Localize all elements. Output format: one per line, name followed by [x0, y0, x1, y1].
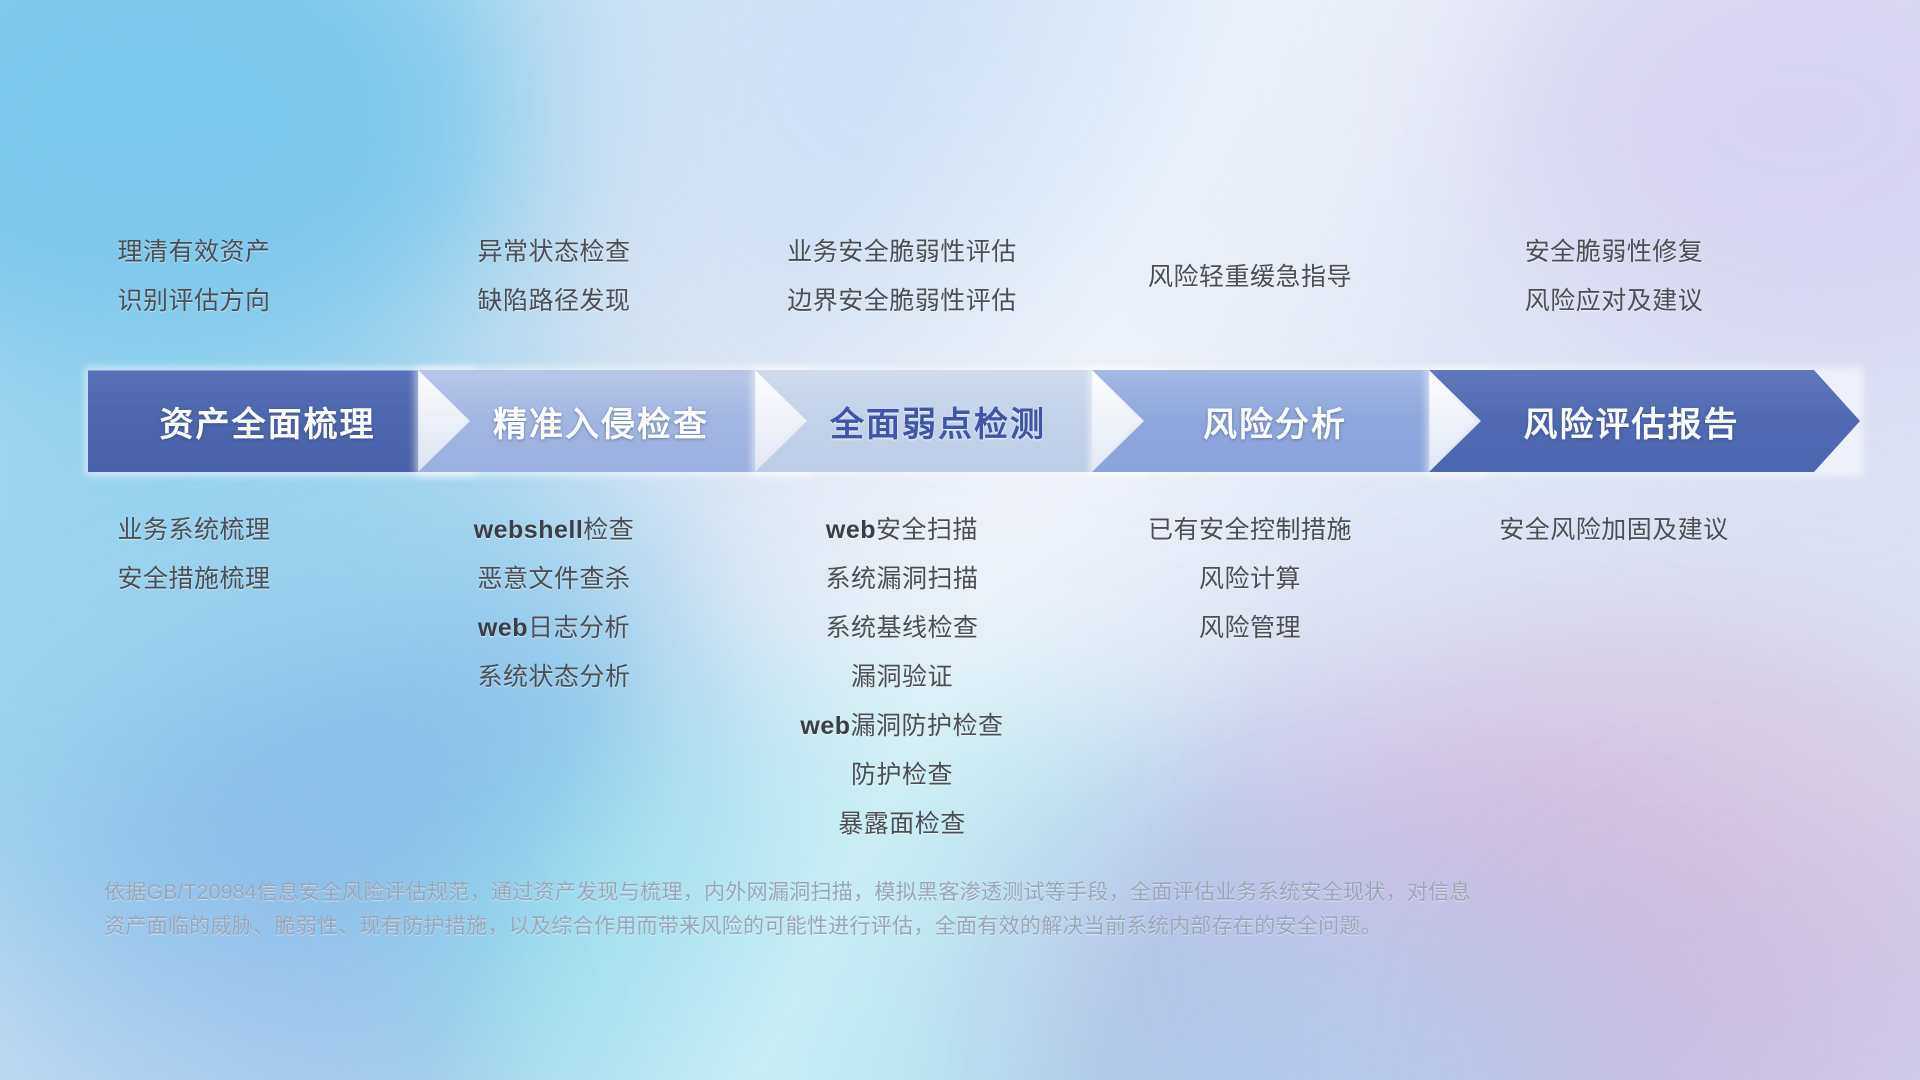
bottom-notes-stage-2: webshell检查 恶意文件查杀 web日志分析 系统状态分析: [380, 506, 728, 702]
note-text: 安全脆弱性修复: [1525, 228, 1704, 277]
footer-description: 依据GB/T20984信息安全风险评估规范，通过资产发现与梳理，内外网漏洞扫描，…: [104, 876, 1724, 944]
chevron-stage-5[interactable]: 风险评估报告: [1429, 370, 1860, 472]
bottom-notes-stage-4: 已有安全控制措施 风险计算 风险管理: [1076, 506, 1424, 653]
top-notes-stage-3: 业务安全脆弱性评估 边界安全脆弱性评估: [728, 228, 1076, 326]
footer-line-2: 资产面临的威胁、脆弱性、现有防护措施，以及综合作用而带来风险的可能性进行评估，全…: [104, 910, 1724, 944]
note-text: 安全风险加固及建议: [1499, 506, 1729, 555]
chevron-label: 资产全面梳理: [160, 397, 376, 446]
note-text: 风险管理: [1199, 604, 1301, 653]
footer-line-1: 依据GB/T20984信息安全风险评估规范，通过资产发现与梳理，内外网漏洞扫描，…: [104, 876, 1724, 910]
top-notes-stage-2: 异常状态检查 缺陷路径发现: [380, 228, 728, 326]
note-text: web漏洞防护检查: [800, 702, 1003, 751]
note-text: 防护检查: [851, 751, 953, 800]
top-notes-stage-5: 安全脆弱性修复 风险应对及建议: [1424, 228, 1804, 326]
note-text: 理清有效资产: [117, 228, 270, 277]
note-text: 风险计算: [1199, 555, 1301, 604]
bottom-notes-row: 业务系统梳理 安全措施梳理 webshell检查 恶意文件查杀 web日志分析 …: [0, 506, 1920, 849]
note-text: webshell检查: [474, 506, 635, 555]
top-notes-stage-4: 风险轻重缓急指导: [1076, 228, 1424, 302]
note-text: 安全措施梳理: [117, 555, 270, 604]
note-text: web日志分析: [478, 604, 630, 653]
note-text: 异常状态检查: [477, 228, 630, 277]
chevron-label: 风险分析: [1203, 397, 1347, 446]
chevron-label: 风险评估报告: [1524, 397, 1740, 446]
top-notes-row: 理清有效资产 识别评估方向 异常状态检查 缺陷路径发现 业务安全脆弱性评估 边界…: [0, 228, 1920, 326]
note-text: 识别评估方向: [117, 277, 270, 326]
note-text: 漏洞验证: [851, 653, 953, 702]
note-text: web安全扫描: [826, 506, 978, 555]
note-text: 风险应对及建议: [1525, 277, 1704, 326]
note-text: 风险轻重缓急指导: [1148, 253, 1352, 302]
note-text: 业务系统梳理: [117, 506, 270, 555]
note-text: 系统漏洞扫描: [825, 555, 978, 604]
note-text: 恶意文件查杀: [477, 555, 630, 604]
note-text: 暴露面检查: [838, 800, 966, 849]
top-notes-stage-1: 理清有效资产 识别评估方向: [8, 228, 380, 326]
process-chevron-band: 资产全面梳理 精准入侵检查 全面弱点检测 风险分析 风险评估报告: [88, 370, 1860, 472]
bottom-notes-stage-1: 业务系统梳理 安全措施梳理: [8, 506, 380, 604]
bottom-notes-stage-3: web安全扫描 系统漏洞扫描 系统基线检查 漏洞验证 web漏洞防护检查 防护检…: [728, 506, 1076, 849]
note-text: 缺陷路径发现: [477, 277, 630, 326]
note-text: 系统状态分析: [477, 653, 630, 702]
bottom-notes-stage-5: 安全风险加固及建议: [1424, 506, 1804, 555]
chevron-label: 精准入侵检查: [493, 397, 709, 446]
note-text: 边界安全脆弱性评估: [787, 277, 1017, 326]
note-text: 业务安全脆弱性评估: [787, 228, 1017, 277]
chevron-label: 全面弱点检测: [830, 397, 1046, 446]
note-text: 已有安全控制措施: [1148, 506, 1352, 555]
diagram-page: 理清有效资产 识别评估方向 异常状态检查 缺陷路径发现 业务安全脆弱性评估 边界…: [0, 0, 1920, 1080]
note-text: 系统基线检查: [825, 604, 978, 653]
